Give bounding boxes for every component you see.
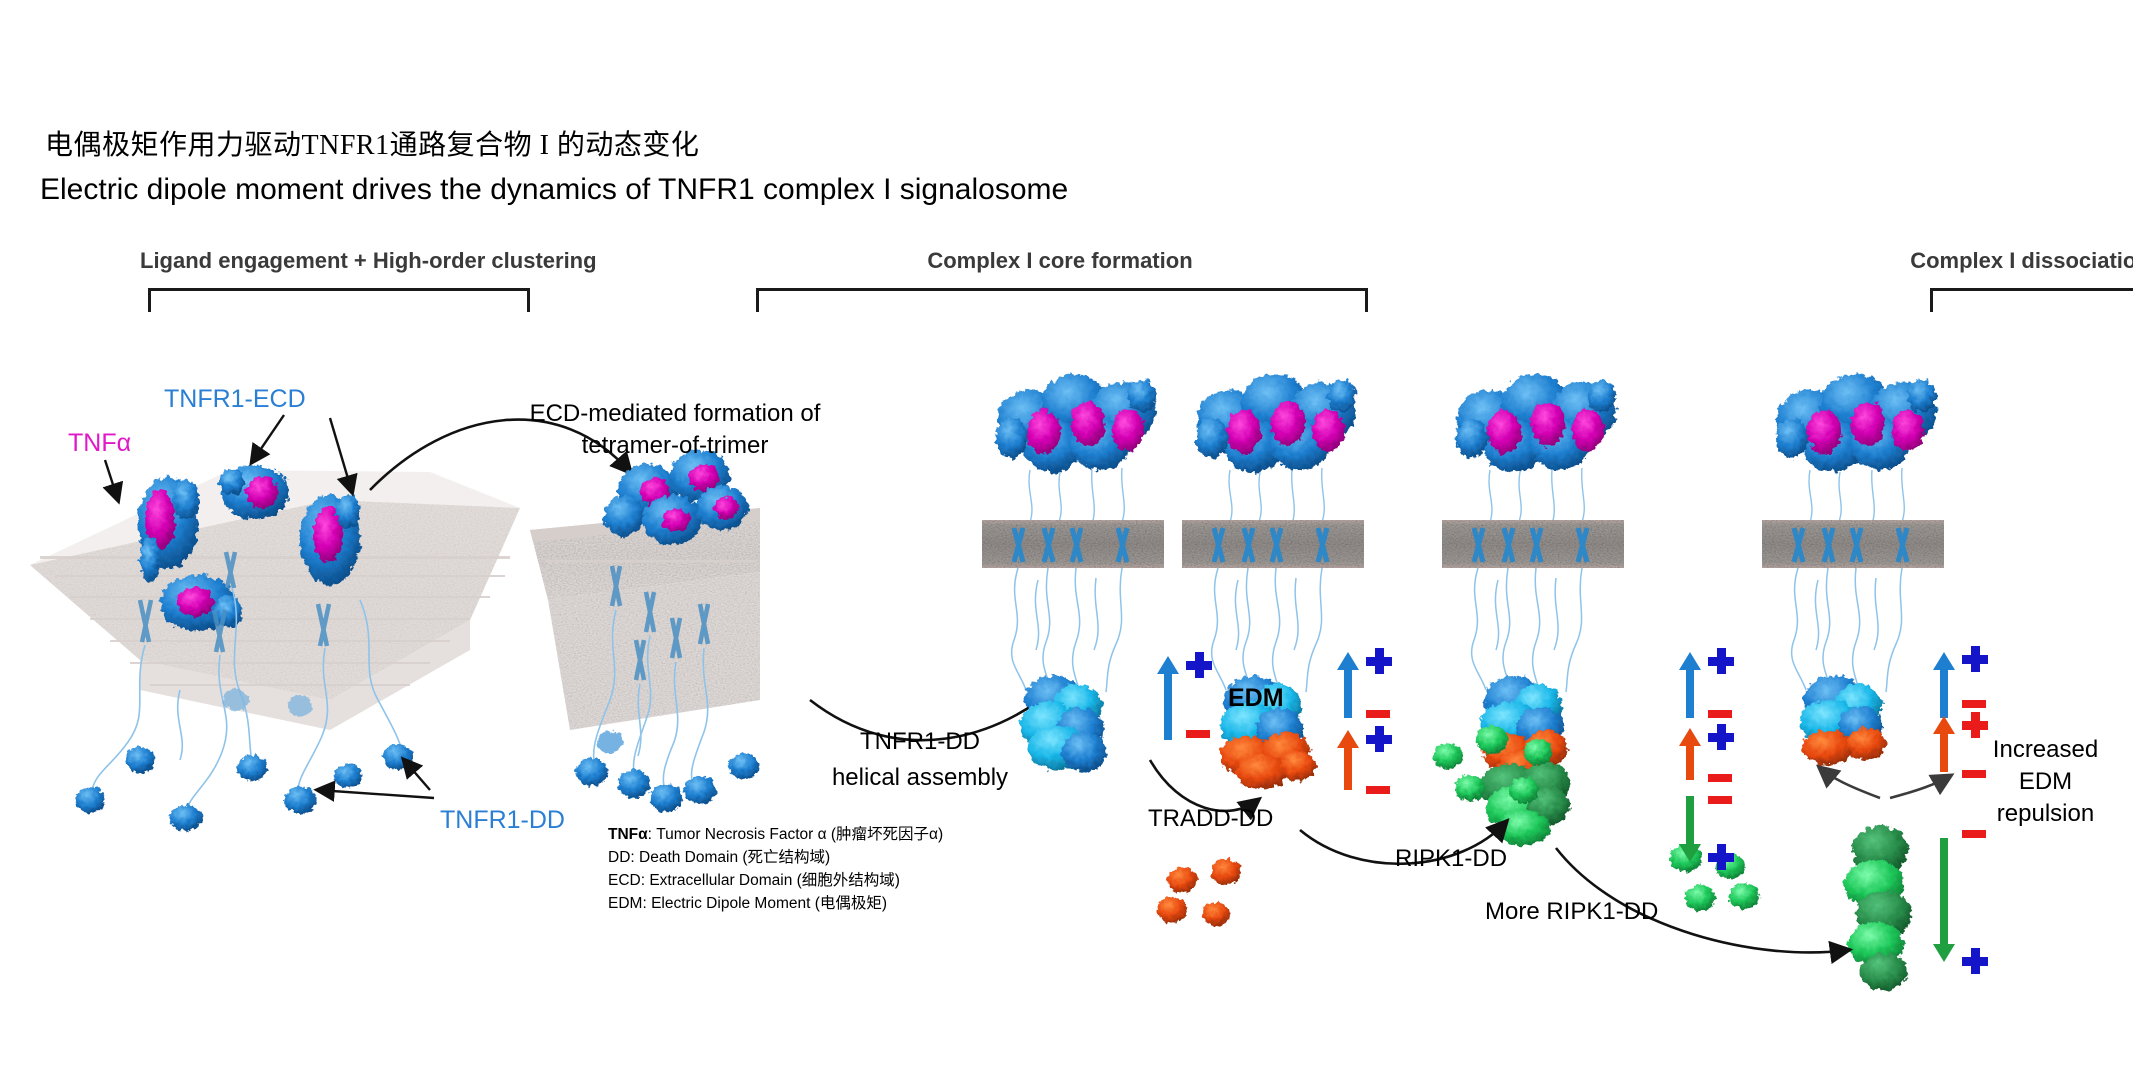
- charge-plus-p3-c: [1708, 844, 1734, 870]
- legend-expansion: : Tumor Necrosis Factor α (肿瘤坏死因子α): [648, 826, 944, 843]
- ecd-head-2: [1196, 374, 1356, 472]
- membrane-patch-tilted: [530, 508, 760, 730]
- ecd-head-4: [1776, 374, 1936, 472]
- panel-tetramer-of-trimer: [530, 450, 760, 812]
- linkers-upper-2: [1229, 468, 1324, 524]
- label-tradd-dd: TRADD-DD: [1148, 805, 1273, 834]
- charge-plus-p4-b: [1962, 948, 1988, 974]
- complex-column-4: [1762, 374, 1950, 991]
- legend-row: DD: Death Domain (死亡结构域): [608, 847, 943, 870]
- linkers-lower-3: [1472, 568, 1582, 692]
- label-ripk1-dd: RIPK1-DD: [1395, 845, 1507, 874]
- legend-term: TNFα: [608, 826, 648, 843]
- label-ecd-formation-line2: tetramer-of-trimer: [510, 432, 840, 461]
- linkers-upper-1: [1029, 468, 1124, 524]
- free-tradd-dd-monomers: [1157, 859, 1241, 926]
- label-tnfr1-ecd: TNFR1-ECD: [164, 384, 306, 414]
- tnfr1-dd-helical-assembly-1: [1020, 676, 1106, 772]
- dissociation-arrows-4: [1820, 768, 1950, 798]
- complex-column-1: [982, 374, 1164, 772]
- edm-arrow-group-1: [1157, 656, 1179, 740]
- label-more-ripk1-dd: More RIPK1-DD: [1485, 898, 1658, 927]
- label-ecd-formation-line1: ECD-mediated formation of: [510, 400, 840, 429]
- label-increased-line3: repulsion: [1958, 800, 2133, 829]
- molecular-scene: [0, 0, 2133, 1073]
- charge-minus-p4-c: [1962, 830, 1986, 838]
- legend-row: TNFα: Tumor Necrosis Factor α (肿瘤坏死因子α): [608, 824, 943, 847]
- charge-plus-p4-a: [1962, 646, 1988, 672]
- ecd-head-1: [996, 374, 1156, 472]
- label-tnfa: TNFα: [68, 428, 131, 458]
- charge-plus-p3-b: [1708, 724, 1734, 750]
- legend-term: DD: [608, 849, 630, 866]
- legend-expansion: : Death Domain (死亡结构域): [630, 849, 830, 866]
- charge-minus-p3-b: [1708, 774, 1732, 782]
- legend-row: ECD: Extracellular Domain (细胞外结构域): [608, 870, 943, 893]
- charge-minus-p3-a: [1708, 710, 1732, 718]
- figure-root: 电偶极矩作用力驱动TNFR1通路复合物 I 的动态变化 Electric dip…: [0, 0, 2133, 1073]
- abbreviation-legend: TNFα: Tumor Necrosis Factor α (肿瘤坏死因子α) …: [608, 824, 943, 916]
- label-helical-assembly-line2: helical assembly: [810, 764, 1030, 793]
- complex-column-2: [1182, 374, 1364, 789]
- edm-arrow-group-4: [1933, 652, 1955, 962]
- charge-plus-p1: [1186, 652, 1212, 678]
- edm-arrow-group-3: [1679, 652, 1701, 862]
- linkers-upper-4: [1809, 468, 1904, 524]
- ecd-head-3: [1456, 374, 1616, 472]
- charge-minus-p2-b: [1366, 786, 1390, 794]
- label-edm: EDM: [1228, 683, 1284, 713]
- charge-plus-p3-a: [1708, 648, 1734, 674]
- death-domain-blobs-tetramer: [576, 731, 759, 812]
- linkers-upper-3: [1489, 468, 1584, 524]
- linkers-lower-2: [1212, 568, 1322, 692]
- linkers-lower-4: [1792, 568, 1902, 692]
- charge-minus-p2-a: [1366, 710, 1390, 718]
- charge-minus-p3-c: [1708, 796, 1732, 804]
- charge-plus-p2-a: [1366, 648, 1392, 674]
- label-helical-assembly-line1: TNFR1-DD: [810, 728, 1030, 757]
- charge-minus-p4-a: [1962, 700, 1986, 708]
- label-increased-line1: Increased: [1958, 736, 2133, 765]
- detached-ripk1-dd-filament-4: [1844, 826, 1912, 991]
- charge-minus-p1: [1186, 730, 1210, 738]
- linkers-lower-1: [1012, 568, 1122, 692]
- panel-ligand-engagement: [30, 415, 520, 831]
- charge-plus-p2-b: [1366, 726, 1392, 752]
- legend-term: ECD: [608, 872, 641, 889]
- legend-row: EDM: Electric Dipole Moment (电偶极矩): [608, 893, 943, 916]
- label-increased-line2: EDM: [1958, 768, 2133, 797]
- tradd-dd-layer-2: [1220, 732, 1316, 789]
- charge-plus-p4-repulsion: [1962, 712, 1988, 738]
- legend-expansion: : Electric Dipole Moment (电偶极矩): [642, 895, 887, 912]
- edm-arrow-group-2: [1337, 652, 1359, 790]
- label-tnfr1-dd: TNFR1-DD: [440, 805, 565, 835]
- legend-expansion: : Extracellular Domain (细胞外结构域): [641, 872, 900, 889]
- legend-term: EDM: [608, 895, 642, 912]
